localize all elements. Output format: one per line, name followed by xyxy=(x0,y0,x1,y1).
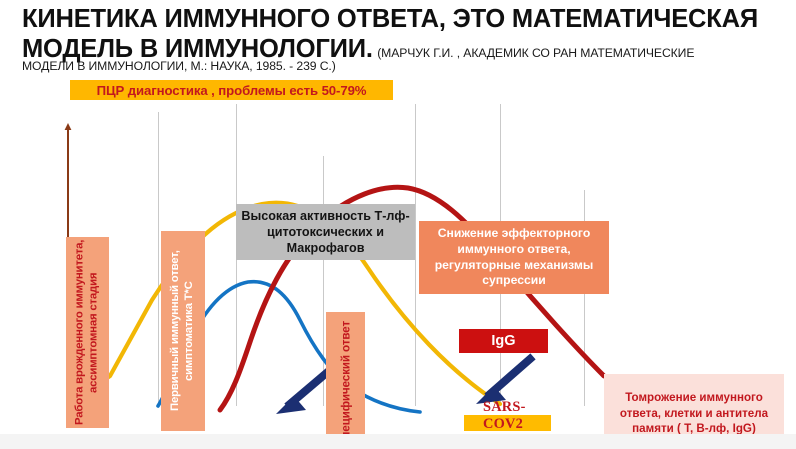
legend-igg-late-label: IgG xyxy=(491,333,515,349)
pcr-diagnostics-banner: ПЦР диагностика , проблемы есть 50-79% xyxy=(70,80,393,100)
page-title-line-1: КИНЕТИКА ИММУННОГО ОТВЕТА, ЭТО МАТЕМАТИЧ… xyxy=(22,4,758,34)
annotation-specific-response: Специфический ответ xyxy=(326,312,365,449)
page-title-line-3: МОДЕЛИ В ИММУНОЛОГИИ, М.: НАУКА, 1985. -… xyxy=(0,57,336,75)
pcr-banner-label: ПЦР диагностика , проблемы есть 50-79% xyxy=(97,83,367,98)
slide-footer-strip xyxy=(0,434,796,449)
legend-igg-late: IgG xyxy=(459,329,548,353)
citation-text-1: (МАРЧУК Г.И. , АКАДЕМИК СО РАН МАТЕМАТИЧ… xyxy=(377,46,694,60)
navy-arrow-day14 xyxy=(276,370,330,414)
navy-arrow-day21 xyxy=(476,359,530,404)
chart-plot-area: Работа врожденного иммунитета, ассимптом… xyxy=(0,104,796,449)
legend-sars-right: SARS- COV2 xyxy=(483,399,563,433)
annotation-innate-immunity-label: Работа врожденного иммунитета, ассимптом… xyxy=(74,237,102,428)
citation-text-2: МОДЕЛИ В ИММУНОЛОГИИ, М.: НАУКА, 1985. -… xyxy=(0,59,336,73)
legend-sars-right-line2: COV2 xyxy=(483,416,563,433)
annotation-primary-response: Первичный иммунный ответ, симптоматика Т… xyxy=(161,231,205,431)
annotation-specific-response-label: Специфический ответ xyxy=(338,322,352,448)
slide-canvas: КИНЕТИКА ИММУННОГО ОТВЕТА, ЭТО МАТЕМАТИЧ… xyxy=(0,0,796,449)
annotation-response-decline-label: Снижение эффекторного иммунного ответа, … xyxy=(423,226,605,289)
annotation-innate-immunity: Работа врожденного иммунитета, ассимптом… xyxy=(66,237,109,428)
annotation-response-decline: Снижение эффекторного иммунного ответа, … xyxy=(419,221,609,294)
page-title-text-1: КИНЕТИКА ИММУННОГО ОТВЕТА, ЭТО МАТЕМАТИЧ… xyxy=(22,5,758,33)
annotation-tcell-activity-label: Высокая активность Т-лф-цитотоксических … xyxy=(240,208,411,256)
annotation-tcell-activity: Высокая активность Т-лф-цитотоксических … xyxy=(236,204,415,260)
annotation-primary-response-label: Первичный иммунный ответ, симптоматика Т… xyxy=(169,231,197,431)
annotation-memory-cells-label: Томрожение иммунного ответа, клетки и ан… xyxy=(610,390,778,436)
legend-sars-right-line1: SARS- xyxy=(483,399,563,416)
